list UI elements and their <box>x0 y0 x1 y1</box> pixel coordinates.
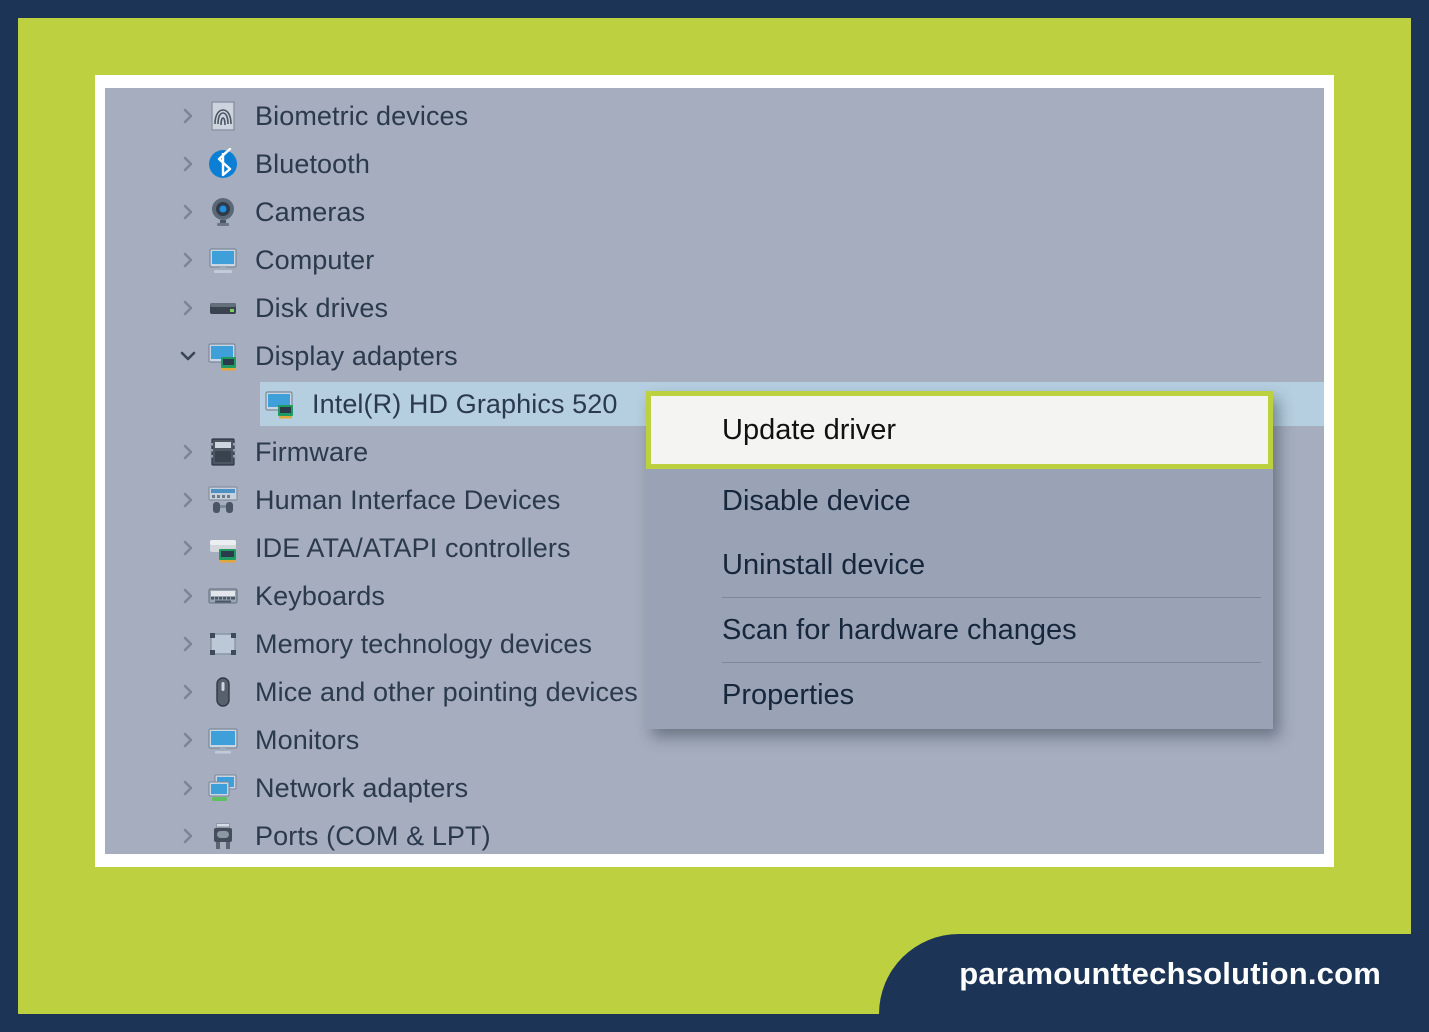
chevron-right-icon[interactable] <box>173 489 203 511</box>
branding-bar: paramounttechsolution.com <box>879 934 1411 1014</box>
firmware-chip-icon <box>203 435 243 469</box>
camera-icon <box>203 195 243 229</box>
chevron-right-icon[interactable] <box>173 105 203 127</box>
website-label: paramounttechsolution.com <box>959 956 1381 992</box>
tree-row[interactable]: Network adapters <box>105 764 1324 812</box>
tree-item-label: Display adapters <box>255 341 458 372</box>
tree-item-label: Human Interface Devices <box>255 485 560 516</box>
tree-row[interactable]: Ports (COM & LPT) <box>105 812 1324 854</box>
memory-device-icon <box>203 627 243 661</box>
context-menu-item-label: Uninstall device <box>722 549 925 582</box>
tree-item-label: Memory technology devices <box>255 629 592 660</box>
tree-item-label: Intel(R) HD Graphics 520 <box>312 389 618 420</box>
context-menu-item[interactable]: Properties <box>646 663 1273 727</box>
chevron-right-icon[interactable] <box>173 729 203 751</box>
device-manager-panel: Biometric devicesBluetoothCamerasCompute… <box>105 88 1324 854</box>
tree-item-label: Network adapters <box>255 773 468 804</box>
chevron-right-icon[interactable] <box>173 777 203 799</box>
chevron-right-icon[interactable] <box>173 297 203 319</box>
context-menu-item-label: Update driver <box>722 414 896 447</box>
monitor-icon <box>203 723 243 757</box>
tree-row[interactable]: Bluetooth <box>105 140 1324 188</box>
tree-item-label: Ports (COM & LPT) <box>255 821 491 852</box>
tree-item-label: Bluetooth <box>255 149 370 180</box>
context-menu-item-label: Disable device <box>722 485 911 518</box>
chevron-right-icon[interactable] <box>173 249 203 271</box>
tree-row[interactable]: Display adapters <box>105 332 1324 380</box>
context-menu[interactable]: Update driverDisable deviceUninstall dev… <box>646 391 1273 729</box>
tree-item-label: Monitors <box>255 725 359 756</box>
graphics-card-icon <box>260 387 300 421</box>
tree-item-label: Mice and other pointing devices <box>255 677 638 708</box>
tree-item-label: Disk drives <box>255 293 388 324</box>
display-adapter-icon <box>203 339 243 373</box>
network-adapter-icon <box>203 771 243 805</box>
tree-item-label: Computer <box>255 245 374 276</box>
tree-row[interactable]: Computer <box>105 236 1324 284</box>
keyboard-icon <box>203 579 243 613</box>
context-menu-item-label: Properties <box>722 679 854 712</box>
tree-item-label: Cameras <box>255 197 365 228</box>
chevron-right-icon[interactable] <box>173 681 203 703</box>
ide-controller-icon <box>203 531 243 565</box>
context-menu-item-label: Scan for hardware changes <box>722 614 1077 647</box>
chevron-right-icon[interactable] <box>173 537 203 559</box>
hid-icon <box>203 483 243 517</box>
tree-row[interactable]: Disk drives <box>105 284 1324 332</box>
page-root: Biometric devicesBluetoothCamerasCompute… <box>0 0 1429 1032</box>
tree-item-label: Firmware <box>255 437 368 468</box>
chevron-right-icon[interactable] <box>173 585 203 607</box>
fingerprint-icon <box>203 99 243 133</box>
port-icon <box>203 819 243 853</box>
context-menu-item[interactable]: Update driver <box>646 391 1273 469</box>
tree-row[interactable]: Cameras <box>105 188 1324 236</box>
chevron-right-icon[interactable] <box>173 201 203 223</box>
tree-item-label: Biometric devices <box>255 101 468 132</box>
chevron-right-icon[interactable] <box>173 825 203 847</box>
tree-item-label: Keyboards <box>255 581 385 612</box>
context-menu-item[interactable]: Scan for hardware changes <box>646 598 1273 662</box>
chevron-right-icon[interactable] <box>173 441 203 463</box>
tree-item-label: IDE ATA/ATAPI controllers <box>255 533 571 564</box>
context-menu-item[interactable]: Disable device <box>646 469 1273 533</box>
disk-drive-icon <box>203 291 243 325</box>
chevron-right-icon[interactable] <box>173 633 203 655</box>
tree-row[interactable]: Biometric devices <box>105 92 1324 140</box>
computer-icon <box>203 243 243 277</box>
chevron-right-icon[interactable] <box>173 153 203 175</box>
mouse-icon <box>203 675 243 709</box>
context-menu-item[interactable]: Uninstall device <box>646 533 1273 597</box>
chevron-down-icon[interactable] <box>173 345 203 367</box>
bluetooth-icon <box>203 147 243 181</box>
